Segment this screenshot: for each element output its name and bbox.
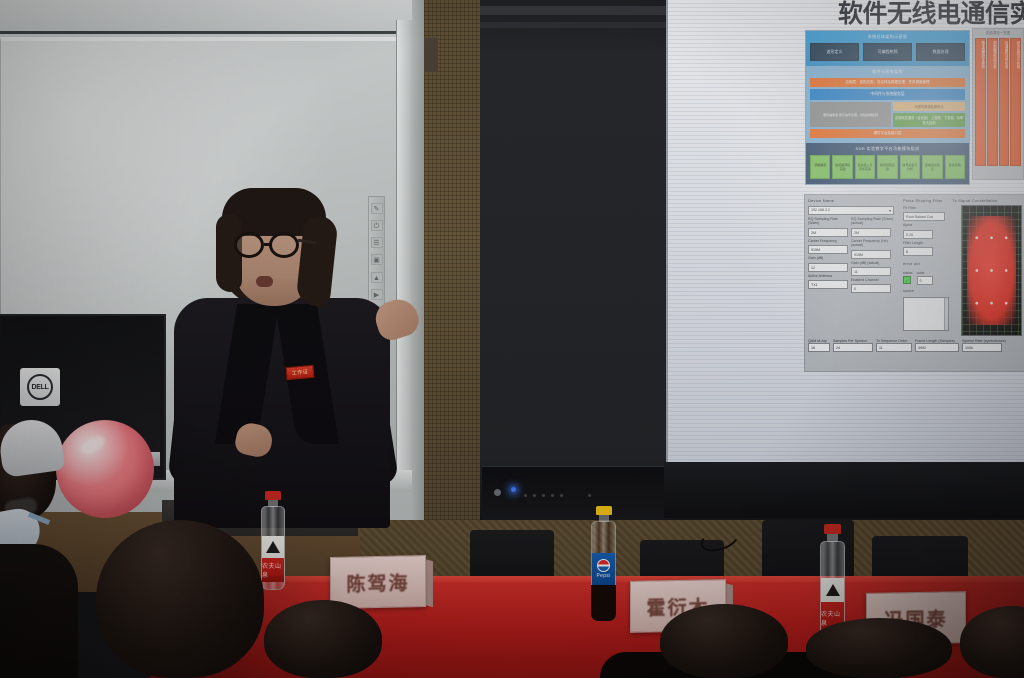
module-chip: 多址接入与同步实验: [855, 155, 875, 179]
error-status-row: status ✓ code 0: [903, 271, 949, 284]
arch-box: 可编程射频: [863, 43, 912, 61]
arch-box: 波形定义: [810, 43, 859, 61]
arch-layer-rf: 射频收发通道（含滤波） 上变频、下变频、功率放大控制: [893, 113, 965, 127]
field-input[interactable]: TX1: [808, 280, 848, 289]
power-led-indicator: [511, 487, 516, 492]
arch-module-chip-row: 调制解调 信道编译码实验 多址接入与同步实验 频谱感知实验 信号采集与分析 通信…: [810, 155, 965, 179]
readout-cell: Tx Sequence Order 11: [876, 339, 912, 352]
arch-layer-application: 应用层：波形应用、协议栈及数据处理、任务调度管理: [810, 78, 965, 87]
labview-main-row: Device Name 192.168.3.2 ▾ RQ Sampling Ra…: [808, 198, 1022, 336]
screen-bottom-bezel: [664, 462, 1024, 518]
arch-top-panel: 系统总体架构示意图 波形定义 可编程射频 数据处理: [806, 31, 969, 66]
slide-experiment-table: 实验项目一览表 基本原理验证实验 调制解调性能分析 信道编码译码实验 综合系统设…: [972, 28, 1024, 180]
arch-box: 数据处理: [916, 43, 965, 61]
module-chip: 通信协议验证: [922, 155, 942, 179]
readout-cell: Samples Per Symbol 24: [833, 339, 873, 352]
readout-label: Tx Sequence Order: [876, 339, 912, 343]
av-status-dot: [588, 494, 591, 497]
arch-top-caption: 系统总体架构示意图: [810, 34, 965, 40]
error-source-textarea[interactable]: [903, 297, 949, 331]
dell-logo: DELL: [20, 368, 60, 406]
bottle-neck: [827, 534, 838, 542]
module-chip: 调制解调: [810, 155, 830, 179]
audience-shoulders: [0, 544, 78, 678]
field-input[interactable]: 2M: [808, 228, 848, 237]
error-code-value[interactable]: 0: [917, 276, 933, 285]
arch-layer-hardware: 硬件平台及接口层: [810, 129, 965, 138]
field-input[interactable]: 2M: [851, 228, 891, 237]
audience-head: [660, 604, 788, 678]
scrollbar[interactable]: [944, 298, 948, 330]
av-status-dot: [551, 494, 554, 497]
pink-balloon: [56, 420, 154, 518]
presenter-mouth: [256, 276, 273, 287]
presenter-speaker: 工作证: [168, 188, 420, 528]
dell-logo-text: DELL: [27, 374, 53, 400]
arch-bottom-caption: SDR 实验教学平台功能模块组成: [810, 146, 965, 152]
field-label: Carrier Frequency: [808, 239, 848, 243]
field-input[interactable]: 0.25: [903, 230, 933, 239]
readout-cell: Frame Length (Samples) 4992: [915, 339, 959, 352]
classroom-photo-scene: ✎ ⏻ ☰ ▣ ▲ ▶ ❯ 软件无线电通信实验平 系统总体架构示意图 波形定义 …: [0, 0, 1024, 678]
error-status-label: status: [903, 271, 913, 275]
curtain-rail-lower: [480, 22, 672, 28]
slide-table-caption: 实验项目一览表: [975, 31, 1021, 36]
slide-table-column: 信道编码译码实验: [999, 38, 1010, 166]
device-name-value: 192.168.3.2: [811, 207, 830, 214]
module-chip: 信号采集与分析: [900, 155, 920, 179]
field-input[interactable]: 915M: [808, 245, 848, 254]
arch-bottom-panel: SDR 实验教学平台功能模块组成 调制解调 信道编译码实验 多址接入与同步实验 …: [806, 143, 969, 184]
readout-value[interactable]: 16: [808, 343, 830, 352]
av-status-dot: [560, 494, 563, 497]
field-input[interactable]: 12: [808, 263, 848, 272]
audience-head: [96, 520, 264, 678]
readout-label: QAM M-Ary: [808, 339, 830, 343]
field-label: Filter Length: [903, 241, 949, 245]
field-input[interactable]: 11: [851, 267, 891, 276]
labview-filter-column: Pulse Shaping Filter Fir Filter Root Rai…: [903, 198, 949, 336]
slide-table-column: 调制解调性能分析: [987, 38, 998, 166]
readout-value[interactable]: 24: [833, 343, 873, 352]
arch-layer-baseband: 可重构基带处理单元: [893, 102, 965, 111]
module-chip: 综合实验: [945, 155, 965, 179]
module-chip: 频谱感知实验: [877, 155, 897, 179]
field-label: Enabled Channel: [851, 278, 900, 282]
field-label: Active Antenna: [808, 274, 848, 278]
curtain-rail-upper: [480, 6, 672, 15]
av-status-dot: [533, 494, 536, 497]
audience-head: [806, 618, 952, 678]
field-label: RQ Sampling Rate (S/sec) (actual): [851, 217, 900, 226]
readout-label: Frame Length (Samples): [915, 339, 959, 343]
readout-cell: Symbol Rate (symbols/sec) 100k: [962, 339, 1006, 352]
eyeglasses-lens-right: [269, 232, 299, 258]
av-status-dot: [542, 494, 545, 497]
chevron-down-icon[interactable]: ▾: [889, 207, 891, 214]
av-status-dot: [524, 494, 527, 497]
eyeglasses-lens-left: [234, 232, 264, 258]
readout-value[interactable]: 11: [876, 343, 912, 352]
arch-top-box-row: 波形定义 可编程射频 数据处理: [810, 43, 965, 61]
arch-split-row: 硬件抽象层 数字信号处理、射频前端控制 可重构基带处理单元 射频收发通道（含滤波…: [810, 102, 965, 127]
arch-layer-middleware: 中间件与系统服务层: [810, 89, 965, 100]
wall-top-band: [0, 0, 418, 34]
field-label: Fir Filter: [903, 206, 949, 210]
arch-layer-hal: 硬件抽象层 数字信号处理、射频前端控制: [810, 102, 891, 127]
audience-member-foreground: [0, 424, 70, 678]
labview-plot-column: Tx Signal Constellation 0.7 0.6 0.4 0.2 …: [952, 198, 1022, 336]
labview-rate-pair: RQ Sampling Rate (S/sec) 2M Carrier Freq…: [808, 217, 900, 293]
error-source-label: source: [903, 289, 949, 293]
presenter-badge-text: 工作证: [287, 366, 314, 379]
labview-device-column: Device Name 192.168.3.2 ▾ RQ Sampling Ra…: [808, 198, 900, 336]
field-input[interactable]: Root Raised Cos: [903, 212, 945, 221]
filter-group-label: Pulse Shaping Filter: [903, 198, 949, 203]
bottle-neck: [599, 515, 609, 522]
field-label: Alpha: [903, 223, 949, 227]
audience-head: [264, 600, 382, 678]
field-label: Gain (dB): [808, 256, 848, 260]
readout-value[interactable]: 4992: [915, 343, 959, 352]
labview-front-panel: Device Name 192.168.3.2 ▾ RQ Sampling Ra…: [804, 194, 1024, 372]
arch-mid-caption: 软件无线电架构: [810, 69, 965, 75]
pillar-notch: [424, 38, 438, 72]
tx-constellation-plot: 0.7 0.6 0.4 0.2 0.0 -0.2 -0.4 -0.7 -0.4 …: [961, 205, 1022, 336]
retracted-projection-curtain: [480, 0, 672, 520]
av-receiver-knob[interactable]: [494, 489, 501, 496]
field-input[interactable]: 0: [851, 284, 891, 293]
device-name-combo[interactable]: 192.168.3.2 ▾: [808, 206, 894, 215]
presenter-badge: 工作证: [285, 365, 314, 380]
bottle-neck: [268, 500, 278, 507]
labview-bottom-readouts: QAM M-Ary 16 Samples Per Symbol 24 Tx Se…: [808, 339, 1022, 352]
status-led-indicator: ✓: [903, 276, 911, 284]
bottle-label-upper: [262, 536, 284, 558]
slide-table-column: 基本原理验证实验: [975, 38, 986, 166]
readout-cell: QAM M-Ary 16: [808, 339, 830, 352]
bottle-cap: [265, 491, 281, 500]
field-label: Carrier Frequency (Hz) (actual): [851, 239, 900, 248]
device-name-label: Device Name: [808, 198, 900, 203]
pepsi-globe-icon: [597, 559, 610, 572]
readout-value[interactable]: 100k: [962, 343, 1002, 352]
field-label: Gain (dB) (actual): [851, 261, 900, 265]
arch-split-right-col: 可重构基带处理单元 射频收发通道（含滤波） 上变频、下变频、功率放大控制: [893, 102, 965, 127]
slide-table-columns: 基本原理验证实验 调制解调性能分析 信道编码译码实验 综合系统设计实验: [975, 38, 1021, 166]
mountain-icon: [266, 541, 280, 553]
wall-pillar: [424, 0, 484, 520]
labview-rate-right: RQ Sampling Rate (S/sec) (actual) 2M Car…: [851, 217, 900, 293]
field-input[interactable]: 8: [903, 247, 933, 256]
error-group-label: error out: [903, 261, 949, 266]
field-label: RQ Sampling Rate (S/sec): [808, 217, 848, 226]
readout-label: Symbol Rate (symbols/sec): [962, 339, 1006, 343]
arch-middle-panel: 软件无线电架构 应用层：波形应用、协议栈及数据处理、任务调度管理 中间件与系统服…: [806, 66, 969, 143]
plot-title: Tx Signal Constellation: [952, 198, 1022, 203]
module-chip: 信道编译码实验: [832, 155, 852, 179]
bottle-cap: [824, 524, 841, 534]
slide-title: 软件无线电通信实验平: [838, 0, 1024, 30]
slide-architecture-diagram: 系统总体架构示意图 波形定义 可编程射频 数据处理 软件无线电架构 应用层：波形…: [805, 30, 970, 185]
slide-table-column: 综合系统设计实验: [1010, 38, 1021, 166]
labview-rate-left: RQ Sampling Rate (S/sec) 2M Carrier Freq…: [808, 217, 848, 293]
av-receiver-unit: [482, 466, 672, 520]
bottle-cap: [596, 506, 612, 515]
eyeglasses-bridge: [264, 243, 271, 246]
constellation-point-cloud: [967, 216, 1017, 324]
field-input[interactable]: 915M: [851, 250, 891, 259]
